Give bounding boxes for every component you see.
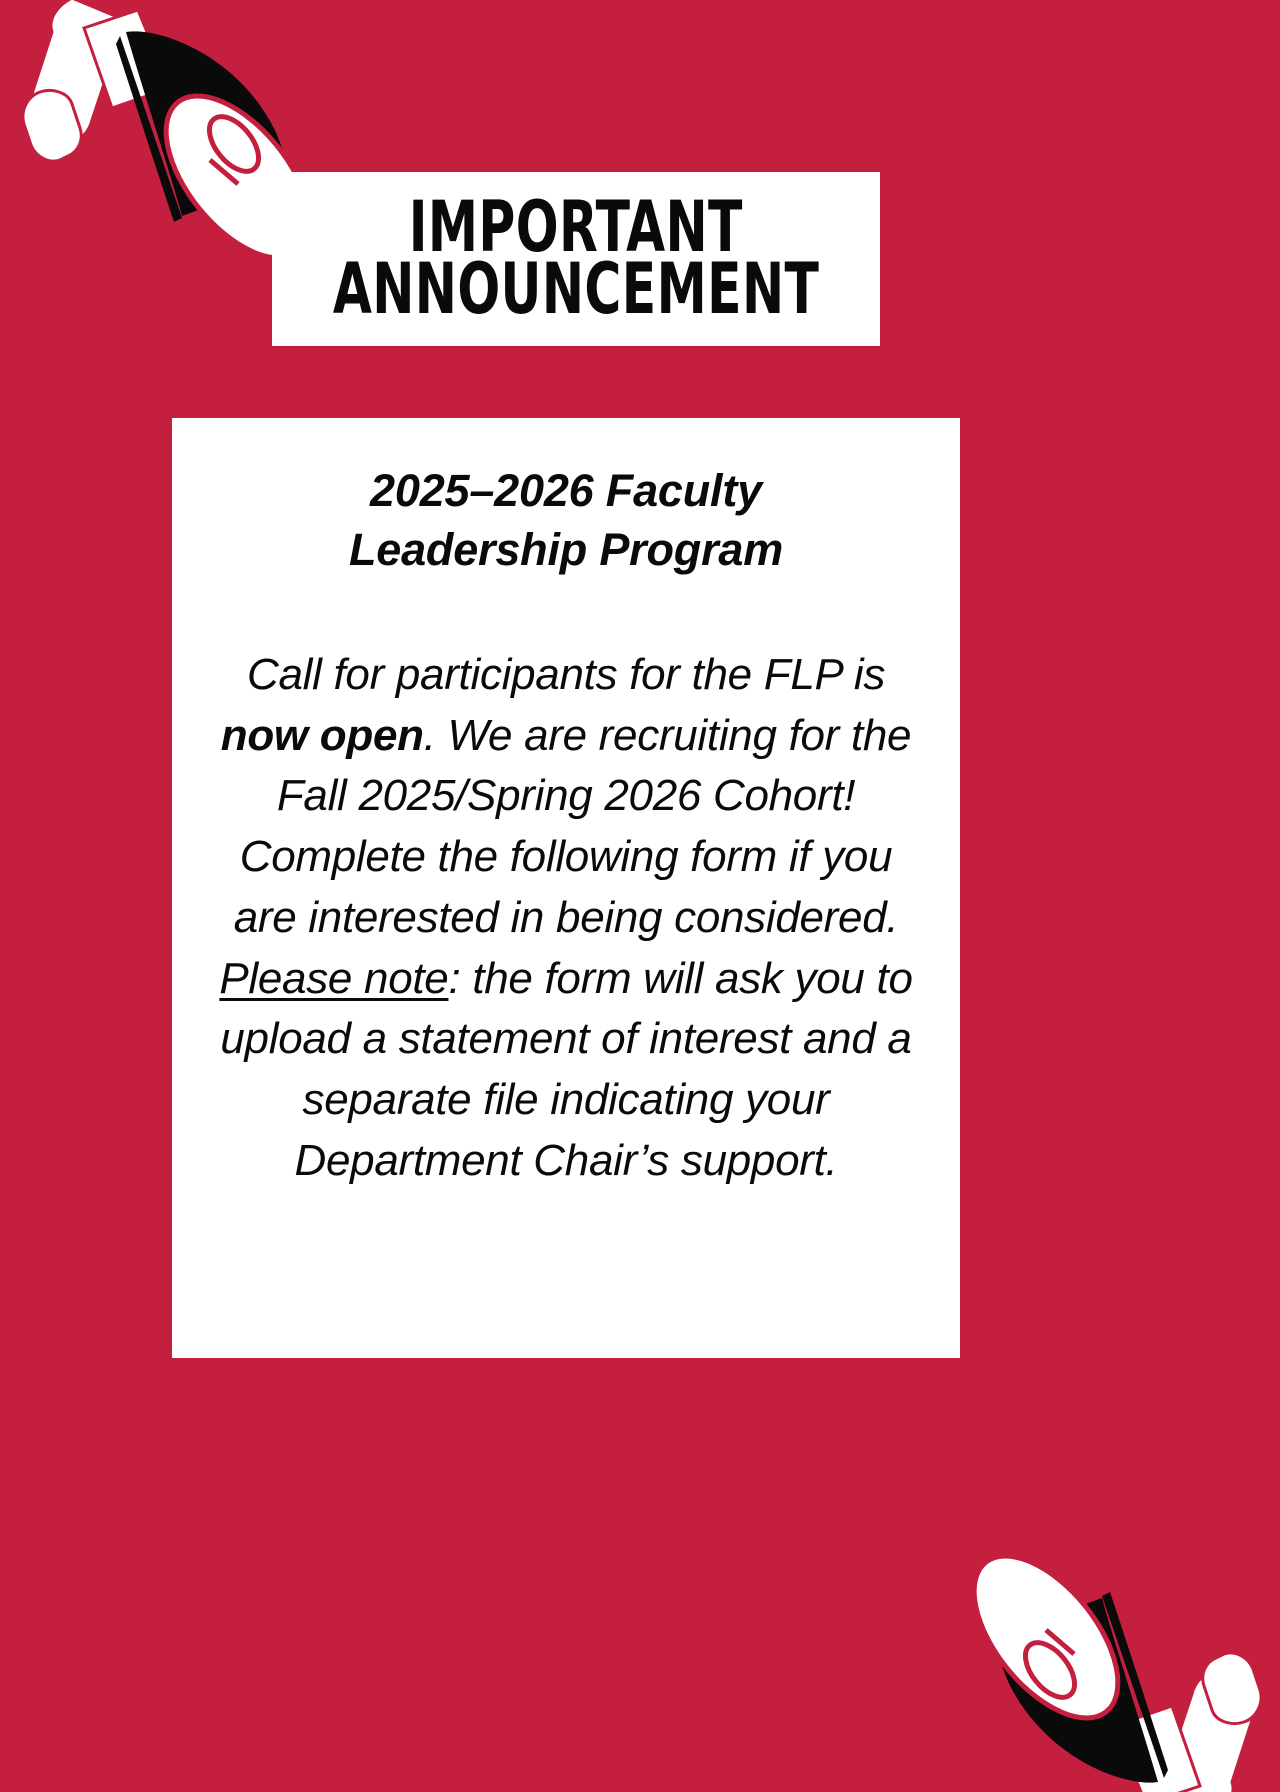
note-label: Please note [219, 954, 448, 1003]
program-title: 2025–2026 Faculty Leadership Program [306, 462, 826, 579]
emphasis-now-open: now open [221, 711, 424, 760]
body-copy: Call for participants for the FLP is now… [216, 645, 916, 1191]
header-title-line-2: ANNOUNCEMENT [333, 259, 820, 321]
announcement-poster: IMPORTANT ANNOUNCEMENT 2025–2026 Faculty… [0, 0, 1280, 1792]
content-card: 2025–2026 Faculty Leadership Program Cal… [172, 418, 960, 1358]
header-banner: IMPORTANT ANNOUNCEMENT [272, 172, 880, 346]
megaphone-icon [938, 1482, 1280, 1792]
body-part-1: Call for participants for the FLP is [247, 650, 885, 699]
